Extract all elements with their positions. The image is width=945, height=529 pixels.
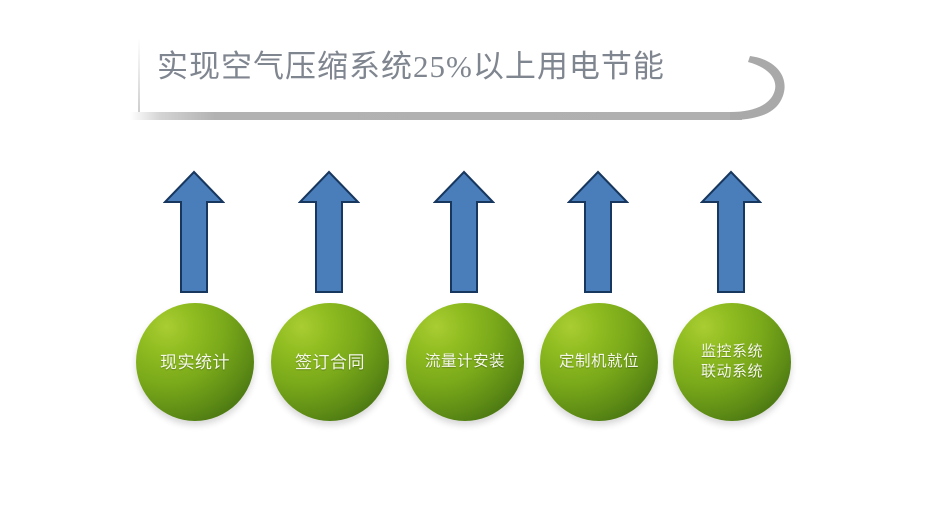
- page-title: 实现空气压缩系统25%以上用电节能: [157, 44, 737, 90]
- arrow-up-icon: [567, 170, 629, 294]
- arrow-up-icon: [433, 170, 495, 294]
- process-node-circle[interactable]: 流量计安装: [406, 303, 524, 421]
- arrow-up-icon: [298, 170, 360, 294]
- process-node-circle[interactable]: 监控系统 联动系统: [673, 303, 791, 421]
- slide-canvas: 实现空气压缩系统25%以上用电节能: [0, 0, 945, 529]
- process-node-label: 签订合同: [291, 352, 369, 373]
- arrow-up-icon: [163, 170, 225, 294]
- process-node-circle[interactable]: 现实统计: [136, 303, 254, 421]
- process-node-label: 现实统计: [156, 352, 234, 373]
- process-node-circle[interactable]: 定制机就位: [540, 303, 658, 421]
- banner-bar: [130, 112, 742, 120]
- process-node-label: 定制机就位: [555, 352, 643, 372]
- process-node-label: 流量计安装: [421, 352, 509, 372]
- title-banner: 实现空气压缩系统25%以上用电节能: [130, 34, 790, 126]
- process-node-label: 监控系统 联动系统: [697, 342, 767, 382]
- arrow-up-icon: [700, 170, 762, 294]
- process-node-circle[interactable]: 签订合同: [271, 303, 389, 421]
- banner-left-rule: [138, 38, 140, 112]
